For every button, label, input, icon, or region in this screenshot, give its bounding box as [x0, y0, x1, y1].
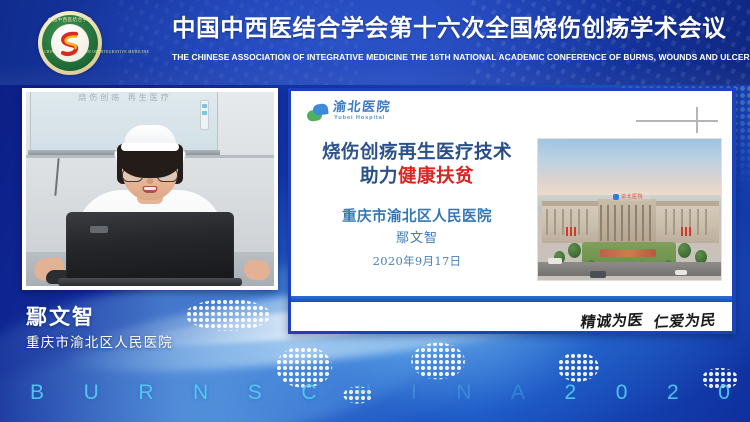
slide-subtitle-date: 2020年9月17日	[307, 251, 527, 273]
photo-columns	[600, 205, 654, 241]
presentation-slide-frame[interactable]: 渝北医院 Yubei Hospital 烧伤创疡再生医疗技术 助力健康扶贫 重庆…	[288, 88, 736, 334]
yubei-hospital-logo-icon: 渝北医院 Yubei Hospital	[307, 101, 419, 127]
slide-title-line2-red: 健康扶贫	[398, 166, 474, 187]
slide-left-accent	[291, 91, 294, 296]
header-title-cn: 中国中西医结合学会第十六次全国烧伤创疡学术会议	[172, 17, 732, 41]
speaker-video-feed[interactable]: 烧伤创疡 再生医疗	[22, 88, 278, 290]
photo-tree	[678, 243, 691, 258]
slide-title-line2: 助力健康扶贫	[307, 165, 527, 189]
slide-subtitle-org: 重庆市渝北区人民医院	[307, 206, 527, 228]
slide-footer: 精诚为医 仁爱为民	[291, 302, 732, 331]
speaker-name: 鄢文智	[26, 306, 286, 329]
photo-red-banner-right	[681, 227, 693, 236]
conference-header-banner: 中国中西医结合学会 CHINESE ASSOCIATION OF INTEGRA…	[0, 0, 750, 85]
slide-body: 渝北医院 Yubei Hospital 烧伤创疡再生医疗技术 助力健康扶贫 重庆…	[291, 91, 732, 296]
photo-road	[538, 262, 721, 276]
hospital-logo-name-cn: 渝北医院	[332, 101, 391, 114]
laptop-logo	[90, 226, 108, 233]
nurse-cap-band	[121, 143, 179, 151]
photo-roof-sign: 渝北医院	[612, 192, 650, 201]
calligraphy-phrase-2: 仁爱为民	[653, 308, 718, 331]
hospital-logo-mark	[307, 104, 329, 122]
laptop-base	[58, 278, 242, 286]
video-inner: 烧伤创疡 再生医疗	[26, 92, 274, 286]
hospital-building-photo: 渝北医院	[537, 138, 722, 281]
speaker-lower-third: 鄢文智 重庆市渝北区人民医院	[26, 306, 286, 351]
emblem-swoosh-icon	[55, 29, 85, 59]
whiteboard-text: 烧伤创疡 再生医疗	[45, 92, 205, 103]
association-emblem-icon: 中国中西医结合学会 CHINESE ASSOCIATION OF INTEGRA…	[38, 11, 102, 75]
teeth	[144, 187, 156, 190]
photo-vehicle	[590, 271, 606, 278]
hospital-logo-name-en: Yubei Hospital	[334, 116, 385, 122]
calligraphy-phrase-1: 精诚为医	[580, 308, 645, 331]
speaker-organization: 重庆市渝北区人民医院	[26, 336, 286, 351]
slide-title: 烧伤创疡再生医疗技术 助力健康扶贫	[307, 141, 527, 188]
slide-title-line1: 烧伤创疡再生医疗技术	[307, 141, 527, 165]
slide-subtitle-block: 重庆市渝北区人民医院 鄢文智 2020年9月17日	[307, 206, 527, 273]
laptop-screen-back	[66, 212, 234, 284]
slide-footer-calligraphy: 精诚为医 仁爱为民	[566, 308, 716, 331]
webcast-stage: 中国中西医结合学会 CHINESE ASSOCIATION OF INTEGRA…	[0, 0, 750, 422]
photo-flowerbed	[600, 249, 656, 257]
cross-line-decoration-icon	[636, 107, 718, 133]
photo-tree	[568, 243, 581, 258]
header-sheen	[0, 63, 750, 85]
photo-red-banner-left	[566, 227, 578, 236]
photo-vehicle	[548, 258, 562, 264]
slide-title-line2-dark: 助力	[360, 166, 398, 187]
slide-subtitle-presenter: 鄢文智	[307, 228, 527, 251]
photo-vehicle	[675, 270, 687, 275]
header-title-en: THE CHINESE ASSOCIATION OF INTEGRATIVE M…	[172, 53, 730, 62]
presentation-slide: 渝北医院 Yubei Hospital 烧伤创疡再生医疗技术 助力健康扶贫 重庆…	[291, 91, 732, 331]
photo-roof-sign-text: 渝北医院	[621, 193, 643, 200]
